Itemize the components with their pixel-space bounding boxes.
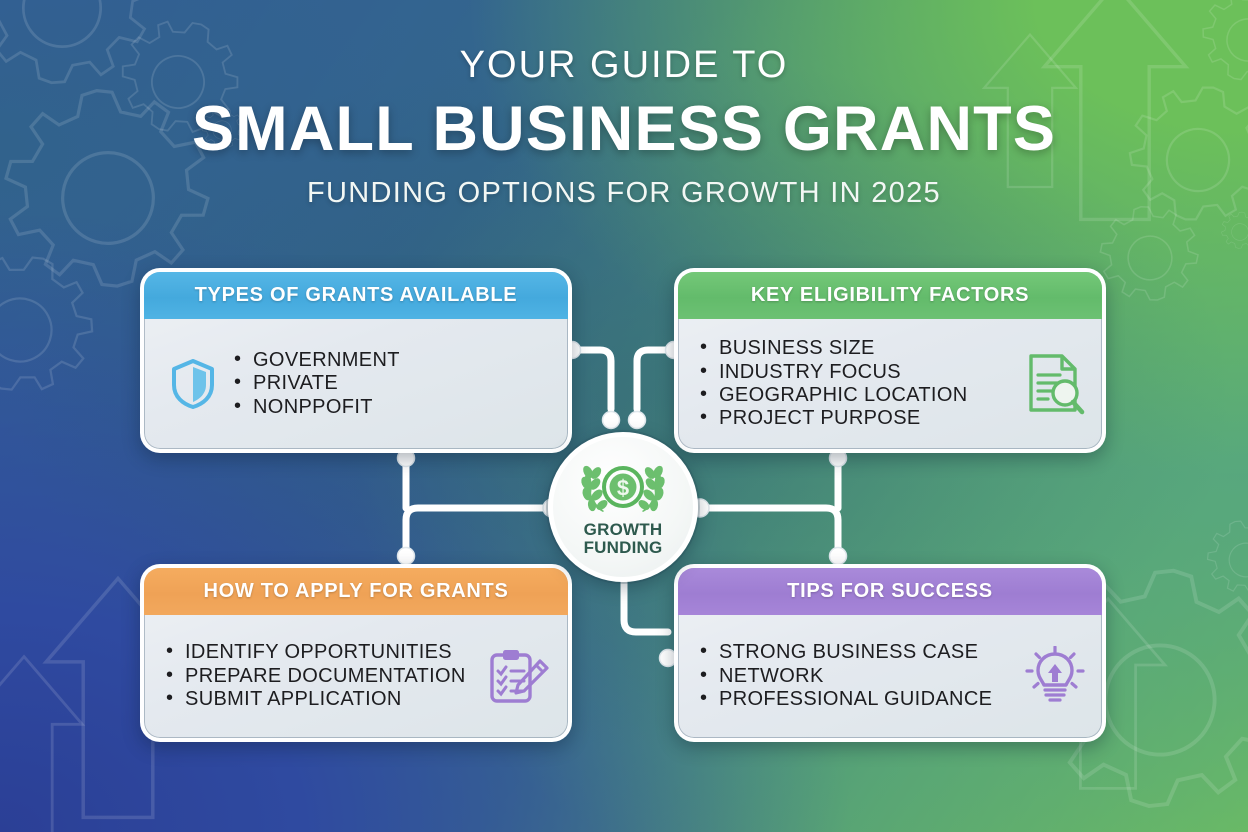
list-item: IDENTIFY OPPORTUNITIES [166, 641, 476, 664]
list-item: STRONG BUSINESS CASE [700, 641, 1014, 664]
card-title-apply: HOW TO APPLY FOR GRANTS [144, 568, 568, 615]
card-list-types: GOVERNMENT PRIVATE NONPPOFIT [234, 349, 552, 419]
lightbulb-arrow-icon [1024, 646, 1086, 708]
list-item: SUBMIT APPLICATION [166, 688, 476, 711]
clipboard-pencil-icon [486, 647, 552, 707]
card-list-apply: IDENTIFY OPPORTUNITIES PREPARE DOCUMENTA… [166, 641, 476, 711]
card-title-tips: TIPS FOR SUCCESS [678, 568, 1102, 615]
connector-eligibility [637, 350, 674, 409]
list-item: NETWORK [700, 665, 1014, 688]
shield-icon [170, 358, 216, 410]
hub-label-line1: GROWTH [584, 521, 663, 538]
list-item: BUSINESS SIZE [700, 337, 1014, 360]
card-types-of-grants[interactable]: TYPES OF GRANTS AVAILABLE GOVERNMENT PRI… [140, 268, 572, 453]
list-item: PROFESSIONAL GUIDANCE [700, 688, 1014, 711]
card-list-eligibility: BUSINESS SIZE INDUSTRY FOCUS GEOGRAPHIC … [700, 337, 1014, 431]
connector-hub-bottom [624, 582, 668, 632]
card-list-tips: STRONG BUSINESS CASE NETWORK PROFESSIONA… [700, 641, 1014, 711]
document-search-icon [1024, 352, 1086, 416]
laurel-dollar-coin-icon: $ [575, 460, 671, 518]
card-title-types: TYPES OF GRANTS AVAILABLE [144, 272, 568, 319]
card-how-to-apply[interactable]: HOW TO APPLY FOR GRANTS IDENTIFY OPPORTU… [140, 564, 572, 742]
list-item: GEOGRAPHIC LOCATION [700, 384, 1014, 407]
hub-growth-funding[interactable]: $ GROWTH FUNDING [548, 432, 698, 582]
connector-types [572, 350, 611, 409]
hub-label: GROWTH FUNDING [584, 521, 663, 556]
list-item: PREPARE DOCUMENTATION [166, 665, 476, 688]
list-item: GOVERNMENT [234, 349, 552, 372]
list-item: PROJECT PURPOSE [700, 407, 1014, 430]
list-item: PRIVATE [234, 372, 552, 395]
list-item: NONPPOFIT [234, 396, 552, 419]
card-tips-for-success[interactable]: TIPS FOR SUCCESS STRONG BUSINESS CASE NE… [674, 564, 1106, 742]
card-title-eligibility: KEY ELIGIBILITY FACTORS [678, 272, 1102, 319]
svg-text:$: $ [617, 476, 629, 501]
connector-apply [406, 508, 552, 564]
card-key-eligibility-factors[interactable]: KEY ELIGIBILITY FACTORS BUSINESS SIZE IN… [674, 268, 1106, 453]
hub-label-line2: FUNDING [584, 539, 663, 556]
list-item: INDUSTRY FOCUS [700, 361, 1014, 384]
connector-tips [700, 508, 838, 564]
